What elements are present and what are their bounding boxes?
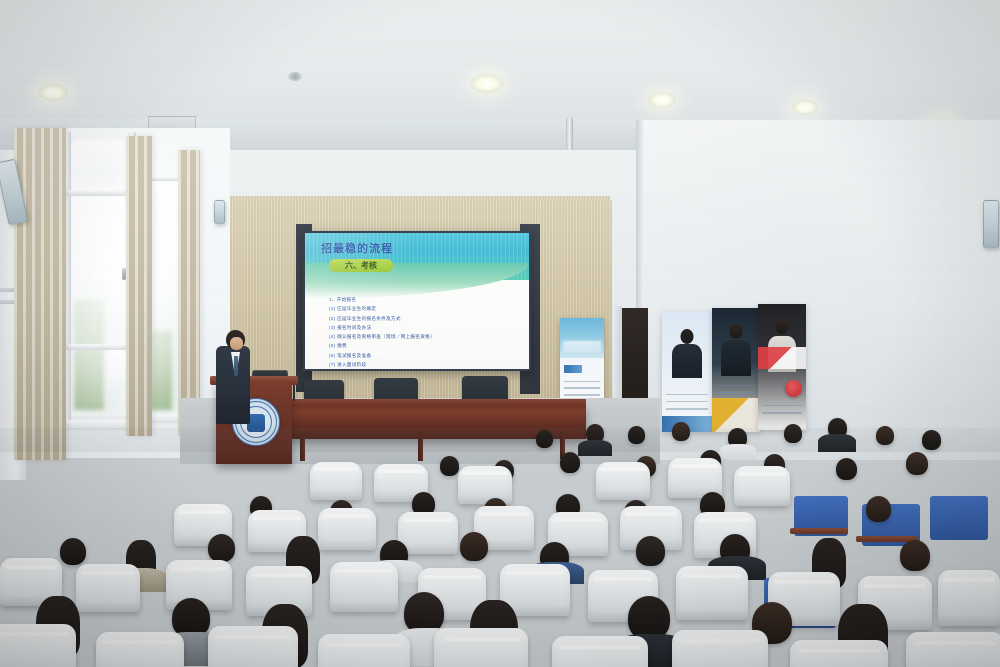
- downlight: [792, 100, 818, 115]
- audience-chair: [790, 640, 888, 667]
- slide-section-chip: 六、考核: [329, 259, 393, 272]
- audience-chair: [938, 570, 1000, 626]
- slide-bullet: (3) 报名时间及办法: [329, 323, 519, 332]
- audience-head: [536, 430, 553, 448]
- presentation-slide: 招最稳的流程 六、考核 1、开始报名 (1) 应届毕业生的确定 (2) 应届毕业…: [305, 233, 529, 369]
- slide-bullet: (5) 缴费: [329, 341, 519, 350]
- banner-person-body: [721, 340, 751, 376]
- audience-shoulders: [818, 434, 856, 452]
- banner-text-line: [666, 394, 708, 396]
- audience-chair: [672, 630, 768, 667]
- banner-badge: [785, 380, 802, 397]
- ceiling-fixture: [288, 72, 302, 81]
- slide-bullet: (6) 笔试报名及准备: [329, 351, 519, 360]
- chair-frame: [930, 496, 988, 540]
- audience-chair: [76, 564, 140, 612]
- audience-chair: [596, 462, 650, 500]
- audience-head: [876, 426, 894, 445]
- window-pane-upper: [70, 140, 130, 190]
- audience-head: [628, 426, 645, 444]
- banner-text-line: [716, 392, 756, 394]
- audience-head: [460, 532, 488, 561]
- audience-chair: [434, 628, 528, 667]
- audience-head: [440, 456, 459, 476]
- audience-chair: [96, 632, 184, 667]
- curtain-right: [178, 150, 200, 436]
- chair-armrest: [790, 528, 848, 534]
- audience-shoulders: [578, 440, 612, 456]
- audience-head: [906, 452, 928, 475]
- slide-bullet: (1) 应届毕业生的确定: [329, 304, 519, 313]
- audience-head: [208, 534, 235, 562]
- audience-chair: [310, 462, 362, 500]
- wall-speaker-right: [983, 200, 999, 248]
- wall-speaker-stage: [214, 200, 225, 224]
- audience-shoulders: [720, 444, 756, 460]
- audience-head: [636, 536, 665, 566]
- banner-text-line: [716, 385, 756, 387]
- banner-person-head: [730, 324, 743, 339]
- audience-chair: [906, 632, 1000, 667]
- audience-head: [672, 422, 690, 441]
- banner-text-line: [564, 381, 601, 383]
- presenter-tie: [234, 356, 238, 376]
- audience-chair: [318, 634, 410, 667]
- table-microphone: [293, 383, 295, 401]
- downlight: [38, 84, 68, 101]
- slide-bullet: (2) 应届毕业生的报名条件及方式: [329, 314, 519, 323]
- audience-chair: [676, 566, 748, 620]
- audience-chair: [208, 626, 298, 667]
- foliage-through-window: [74, 300, 104, 410]
- foliage-through-window: [150, 330, 172, 410]
- slide-bullet: 1、开始报名: [329, 295, 519, 304]
- audience-head: [922, 430, 941, 450]
- audience-chair: [330, 562, 398, 612]
- slide-bullet: (4) 确认报名及资格审查（现场／网上报名资格）: [329, 332, 519, 341]
- audience-head: [60, 538, 86, 565]
- audience-area: [0, 400, 1000, 667]
- audience-head: [784, 424, 802, 443]
- audience-head: [560, 452, 580, 473]
- audience-chair: [734, 466, 790, 506]
- lecture-hall-photo: 招最稳的流程 六、考核 1、开始报名 (1) 应届毕业生的确定 (2) 应届毕业…: [0, 0, 1000, 667]
- slide-body: 1、开始报名 (1) 应届毕业生的确定 (2) 应届毕业生的报名条件及方式 (3…: [305, 295, 529, 365]
- projection-screen: 招最稳的流程 六、考核 1、开始报名 (1) 应届毕业生的确定 (2) 应届毕业…: [303, 231, 531, 371]
- curtain-middle: [126, 136, 152, 436]
- slide-bullet: (7) 进入面试阶段: [329, 360, 519, 369]
- banner-text-line: [564, 394, 601, 396]
- audience-head: [900, 540, 930, 571]
- downlight: [648, 92, 676, 108]
- banner-logo: [564, 365, 582, 373]
- banner-person-head: [681, 329, 694, 344]
- banner-person-body: [672, 344, 702, 378]
- audience-chair: [318, 508, 376, 550]
- audience-chair: [458, 466, 512, 504]
- presenter-face: [230, 337, 243, 350]
- audience-chair: [398, 512, 458, 554]
- audience-head: [836, 458, 857, 480]
- banner-photo: [560, 318, 604, 358]
- audience-head: [866, 496, 891, 522]
- slide-title: 招最稳的流程: [321, 240, 393, 256]
- banner-person-head: [776, 319, 789, 334]
- downlight: [470, 74, 504, 93]
- audience-chair: [552, 636, 648, 667]
- banner-text-line: [564, 387, 601, 389]
- audience-chair: [0, 624, 76, 667]
- banner-ribbon: [758, 347, 806, 369]
